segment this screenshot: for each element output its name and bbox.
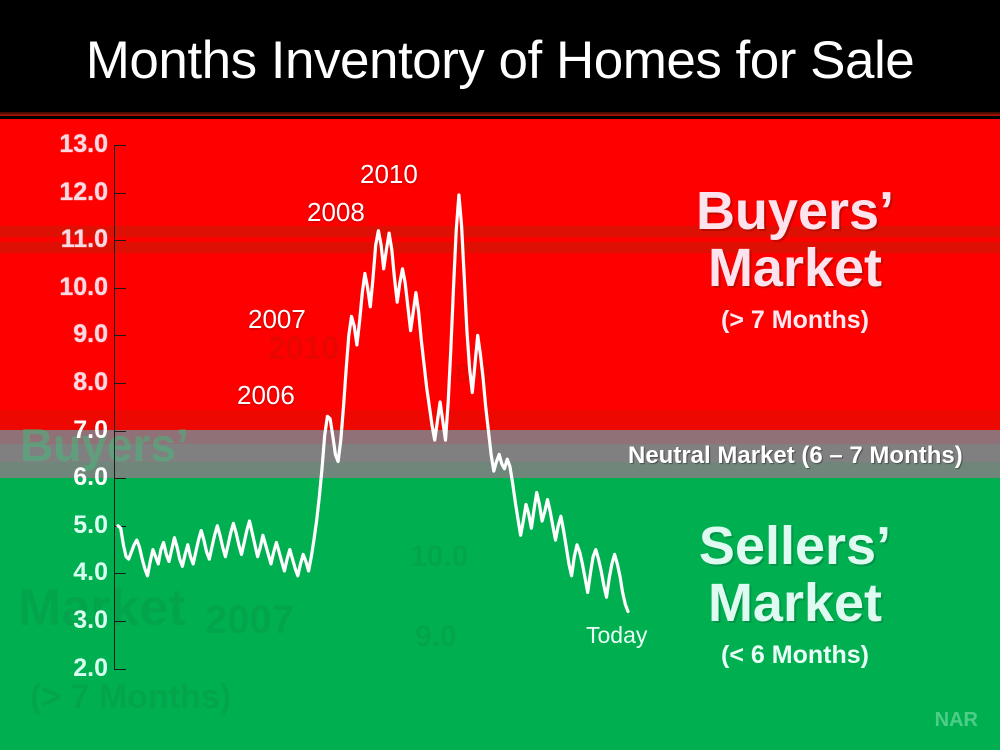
annotation-2008: 2008: [307, 197, 365, 228]
buyers-market-line1: Buyers’: [650, 183, 940, 240]
sellers-market-line1: Sellers’: [650, 518, 940, 575]
annotation-today: Today: [586, 622, 647, 649]
sellers-market-sub: (< 6 Months): [650, 641, 940, 670]
buyers-market-sub: (> 7 Months): [650, 306, 940, 335]
sellers-market-line2: Market: [650, 575, 940, 632]
title-bar: Months Inventory of Homes for Sale: [0, 0, 1000, 119]
page-title: Months Inventory of Homes for Sale: [0, 30, 1000, 91]
slide-root: Months Inventory of Homes for Sale Buyer…: [0, 0, 1000, 750]
buyers-market-line2: Market: [650, 240, 940, 297]
sellers-market-label: Sellers’ Market (< 6 Months): [650, 518, 940, 670]
annotation-2006: 2006: [237, 380, 295, 411]
nar-watermark: NAR: [935, 709, 978, 732]
annotation-2010: 2010: [360, 159, 418, 190]
buyers-market-label: Buyers’ Market (> 7 Months): [650, 183, 940, 335]
annotation-2007: 2007: [248, 304, 306, 335]
title-divider: [0, 112, 1000, 116]
neutral-market-label: Neutral Market (6 – 7 Months): [628, 442, 963, 470]
series-line-months-inventory: [118, 195, 628, 612]
